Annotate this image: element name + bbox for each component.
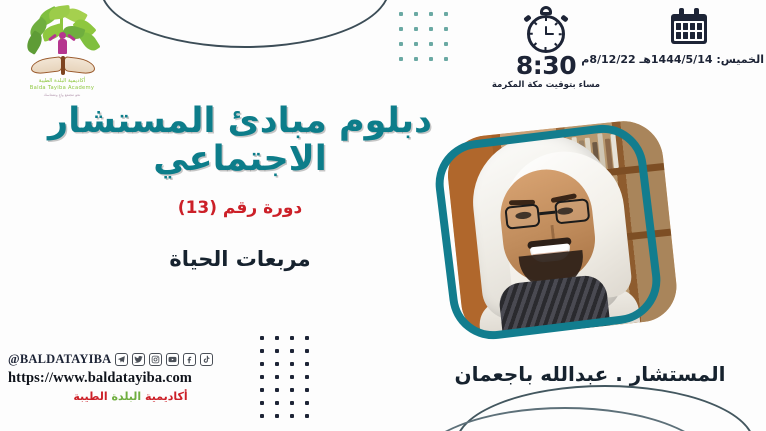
logo-tagline: نحو مجتمع واعٍ ومتماسك	[16, 92, 108, 98]
decorative-dot	[305, 375, 309, 379]
page-title: دبلوم مبادئ المستشار الاجتماعي	[30, 102, 450, 178]
decorative-dot	[444, 57, 448, 61]
decorative-dot	[305, 388, 309, 392]
decorative-dot	[260, 414, 264, 418]
academy-word-2: البلدة	[111, 390, 141, 403]
decorative-arc-bottom	[455, 385, 755, 431]
decorative-dot	[290, 414, 294, 418]
decorative-dot	[290, 362, 294, 366]
decorative-dot	[399, 27, 403, 31]
stopwatch-tick	[559, 33, 562, 35]
decorative-dot	[305, 349, 309, 353]
decorative-dot	[290, 336, 294, 340]
decorative-dot	[399, 12, 403, 16]
social-handle: @BALDATAYIBA	[8, 352, 111, 367]
event-date-block: الخميس: 1444/5/14هـ 8/12/22م	[614, 6, 764, 68]
stopwatch-tick	[545, 47, 547, 50]
decorative-dot	[414, 27, 418, 31]
decorative-dot	[260, 336, 264, 340]
tiktok-icon[interactable]	[200, 353, 213, 366]
decorative-dot	[275, 349, 279, 353]
decorative-dot	[429, 12, 433, 16]
logo-name-arabic: أكاديمية البلدة الطيبة	[16, 78, 108, 85]
logo-mark	[16, 6, 108, 78]
poster-canvas: أكاديمية البلدة الطيبة Balda Tayiba Acad…	[0, 0, 766, 431]
decorative-dot	[429, 57, 433, 61]
logo-person-head	[59, 32, 66, 39]
decorative-dot	[260, 388, 264, 392]
instagram-icon[interactable]	[149, 353, 162, 366]
decorative-dot	[275, 401, 279, 405]
decorative-dot	[305, 362, 309, 366]
decorative-arc-top	[100, 0, 390, 48]
decorative-dot	[290, 349, 294, 353]
logo-book-page-right	[64, 56, 95, 75]
decorative-dot	[429, 27, 433, 31]
decorative-dot	[260, 375, 264, 379]
stopwatch-button-right	[560, 14, 569, 22]
stopwatch-hand-hour	[545, 33, 554, 35]
decorative-dot	[275, 336, 279, 340]
decorative-dot-grid-bottom	[249, 336, 309, 427]
decorative-dot	[414, 42, 418, 46]
academy-logo: أكاديمية البلدة الطيبة Balda Tayiba Acad…	[16, 6, 108, 102]
decorative-dot	[290, 388, 294, 392]
decorative-arc-bottom-secondary	[415, 407, 715, 431]
decorative-dot	[275, 414, 279, 418]
footer-contact-block: @BALDATAYIBA https://www.baldatayiba.com…	[8, 352, 238, 403]
decorative-dot	[399, 42, 403, 46]
academy-name-footer: أكاديمية البلدة الطيبة	[23, 390, 238, 403]
speaker-photo-frame	[431, 120, 666, 344]
decorative-dot	[275, 362, 279, 366]
event-time-note: مساء بتوقيت مكة المكرمة	[488, 80, 604, 91]
decorative-dot	[414, 12, 418, 16]
course-topic-label: مربعات الحياة	[30, 247, 450, 271]
stopwatch-tick	[530, 33, 533, 35]
decorative-dot	[275, 375, 279, 379]
logo-person-figure	[54, 32, 70, 56]
speaker-name: المستشار . عبدالله باجعمان	[420, 362, 760, 386]
stopwatch-icon	[523, 6, 569, 52]
event-time-block: 8:30 مساء بتوقيت مكة المكرمة	[488, 6, 604, 91]
decorative-dot	[290, 375, 294, 379]
logo-open-book	[30, 54, 96, 76]
event-date-value: الخميس: 1444/5/14هـ 8/12/22م	[614, 52, 764, 68]
decorative-dot-grid-top	[388, 12, 448, 72]
youtube-icon[interactable]	[166, 353, 179, 366]
website-url[interactable]: https://www.baldatayiba.com	[8, 370, 238, 387]
speaker-photo-block	[432, 126, 712, 346]
decorative-dot	[399, 57, 403, 61]
twitter-icon[interactable]	[132, 353, 145, 366]
decorative-dot	[444, 12, 448, 16]
calendar-grid	[674, 21, 704, 41]
decorative-dot	[414, 57, 418, 61]
telegram-icon[interactable]	[115, 353, 128, 366]
course-number-label: دورة رقم (13)	[30, 198, 450, 218]
decorative-dot	[429, 42, 433, 46]
calendar-icon	[669, 6, 709, 46]
decorative-dot	[260, 401, 264, 405]
stopwatch-crown	[540, 6, 552, 15]
academy-word-3: الطيبة	[73, 390, 107, 403]
facebook-icon[interactable]	[183, 353, 196, 366]
decorative-dot	[444, 42, 448, 46]
decorative-dot	[305, 336, 309, 340]
decorative-dot	[260, 349, 264, 353]
social-handle-row: @BALDATAYIBA	[8, 352, 238, 367]
decorative-dot	[275, 388, 279, 392]
stopwatch-tick	[545, 18, 547, 21]
decorative-dot	[290, 401, 294, 405]
logo-book-page-left	[31, 56, 62, 75]
logo-name-english: Balda Tayiba Academy	[16, 85, 108, 92]
logo-person-body	[58, 39, 67, 54]
decorative-dot	[305, 414, 309, 418]
decorative-dot	[260, 362, 264, 366]
academy-word-1: أكاديمية	[145, 390, 188, 403]
decorative-dot	[444, 27, 448, 31]
decorative-dot	[305, 401, 309, 405]
logo-book-spine	[61, 56, 65, 75]
